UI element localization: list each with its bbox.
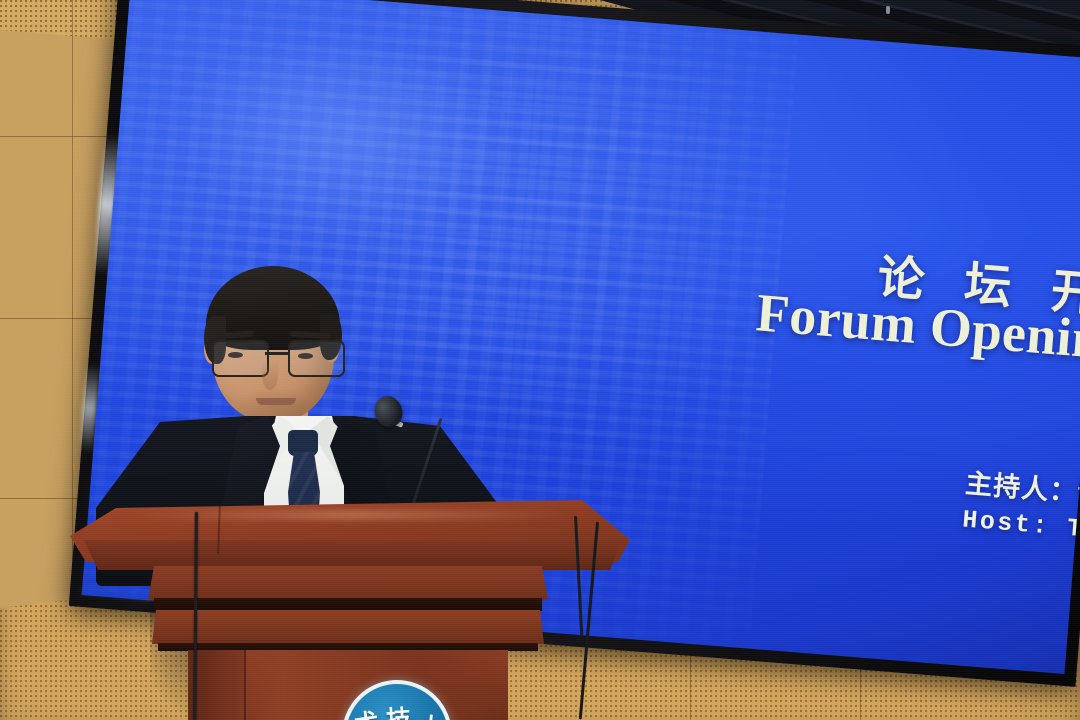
emblem-char-1: 术	[352, 702, 382, 720]
lens-left	[212, 340, 269, 377]
photo-scene: 论 坛 开 幕 Forum Opening 主持人：谭安 Host: Tan A…	[0, 0, 1080, 720]
podium-tier-lower	[152, 610, 544, 644]
emblem-char-2: 技	[385, 699, 412, 720]
nose	[262, 360, 278, 390]
ceiling-fixture-icon	[886, 6, 890, 14]
emblem-char-3: 大	[417, 707, 444, 720]
mouth	[256, 398, 296, 405]
lens-right	[288, 340, 345, 377]
podium-top-edge	[70, 540, 630, 570]
podium-tier-upper	[148, 566, 548, 600]
glasses-bridge	[265, 352, 288, 355]
podium-seam	[244, 650, 246, 720]
podium-groove	[154, 598, 542, 611]
podium-lectern: 术 技 大	[70, 500, 630, 720]
